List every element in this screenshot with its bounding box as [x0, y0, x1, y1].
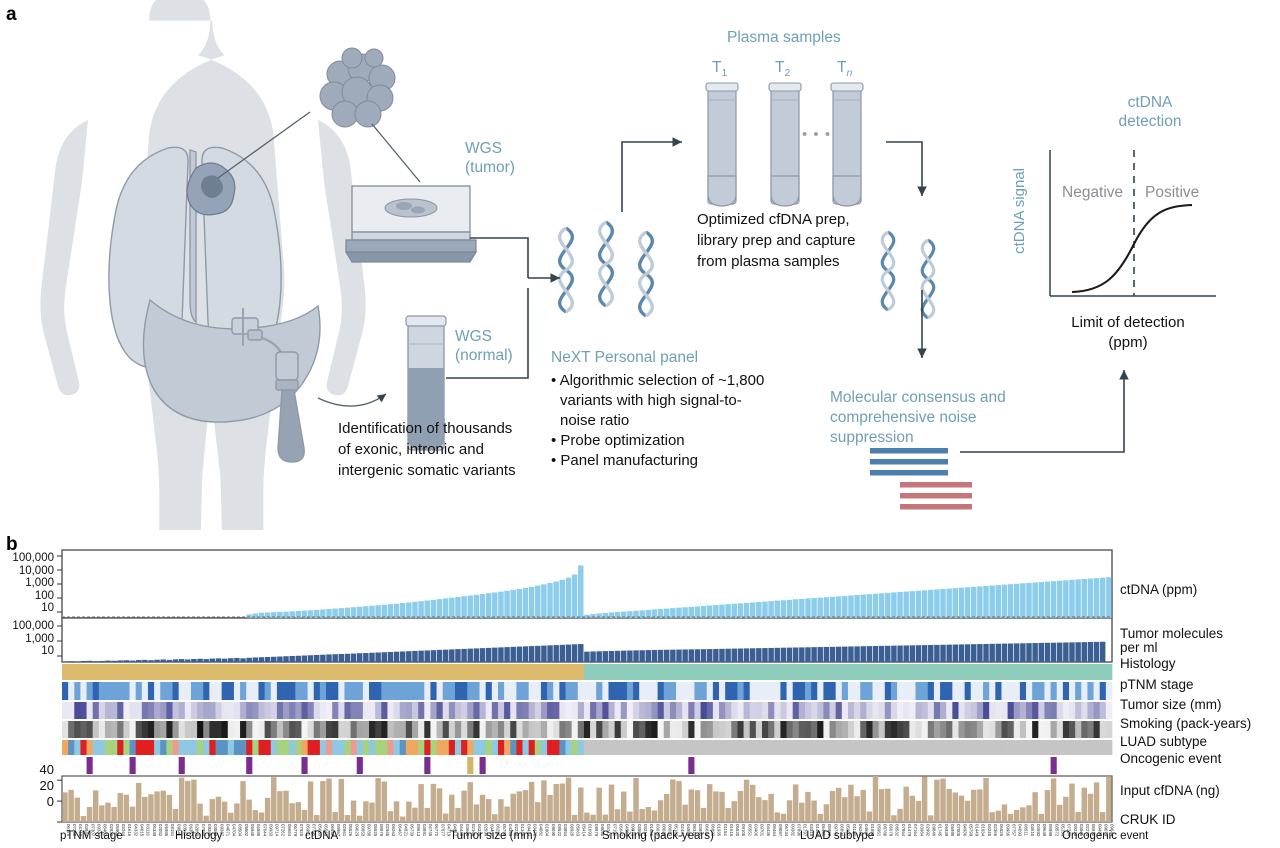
oncogenic-event-cell: [713, 757, 719, 774]
tumor-size-cell: [756, 702, 762, 719]
oncogenic-event-cell: [123, 757, 129, 774]
ptnm-stage-cell: [99, 682, 105, 700]
histology-cell: [823, 664, 829, 680]
smoking-cell: [744, 721, 750, 738]
tumor-size-cell: [535, 702, 541, 719]
smoking-cell: [510, 721, 516, 738]
tumor-size-cell: [406, 702, 412, 719]
smoking-cell: [295, 721, 301, 738]
ptnm-stage-cell: [768, 682, 774, 700]
ptnm-stage-cell: [504, 682, 510, 700]
histology-cell: [271, 664, 277, 680]
tumor-size-cell: [1075, 702, 1081, 719]
luad-subtype-cell: [566, 740, 572, 755]
tumor-size-cell: [780, 702, 786, 719]
ptnm-stage-cell: [909, 682, 915, 700]
smoking-cell: [688, 721, 694, 738]
luad-subtype-cell: [774, 740, 780, 755]
luad-subtype-cell: [701, 740, 707, 755]
tumor-size-cell: [811, 702, 817, 719]
luad-subtype-cell: [848, 740, 854, 755]
luad-subtype-cell: [676, 740, 682, 755]
histology-cell: [332, 664, 338, 680]
luad-subtype-cell: [602, 740, 608, 755]
histology-cell: [793, 664, 799, 680]
luad-subtype-cell: [756, 740, 762, 755]
tumor-size-cell: [774, 702, 780, 719]
luad-subtype-cell: [74, 740, 80, 755]
histology-cell: [602, 664, 608, 680]
smoking-cell: [117, 721, 123, 738]
tumor-size-cell: [1106, 702, 1112, 719]
ptnm-stage-cell: [965, 682, 971, 700]
histology-cell: [559, 664, 565, 680]
ptnm-stage-cell: [608, 682, 614, 700]
ptnm-stage-cell: [694, 682, 700, 700]
tumor-size-cell: [830, 702, 836, 719]
smoking-cell: [142, 721, 148, 738]
oncogenic-event-cell: [946, 757, 952, 774]
smoking-cell: [830, 721, 836, 738]
luad-subtype-cell: [547, 740, 553, 755]
ptnm-stage-cell: [400, 682, 406, 700]
luad-subtype-cell: [995, 740, 1001, 755]
smoking-cell: [87, 721, 93, 738]
tumor-size-cell: [142, 702, 148, 719]
ptnm-stage-cell: [93, 682, 99, 700]
histology-cell: [289, 664, 295, 680]
tumor-size-cell: [584, 702, 590, 719]
luad-subtype-cell: [406, 740, 412, 755]
tumor-size-cell: [1026, 702, 1032, 719]
histology-cell: [136, 664, 142, 680]
luad-subtype-cell: [946, 740, 952, 755]
histology-cell: [123, 664, 129, 680]
oncogenic-event-cell: [1020, 757, 1026, 774]
oncogenic-event-cell: [381, 757, 387, 774]
luad-subtype-cell: [1069, 740, 1075, 755]
oncogenic-event-cell: [418, 757, 424, 774]
ptnm-stage-cell: [246, 682, 252, 700]
oncogenic-event-cell: [934, 757, 940, 774]
ptnm-stage-cell: [234, 682, 240, 700]
oncogenic-event-cell: [467, 757, 473, 774]
oncogenic-event-cell: [87, 757, 93, 774]
tumor-size-cell: [1063, 702, 1069, 719]
smoking-cell: [664, 721, 670, 738]
oncogenic-event-cell: [117, 757, 123, 774]
tissue-slide: [346, 186, 476, 262]
ptnm-stage-cell: [977, 682, 983, 700]
smoking-cell: [1057, 721, 1063, 738]
luad-subtype-cell: [363, 740, 369, 755]
oncogenic-event-cell: [437, 757, 443, 774]
ptnm-stage-cell: [547, 682, 553, 700]
histology-cell: [596, 664, 602, 680]
luad-subtype-cell: [694, 740, 700, 755]
smoking-cell: [885, 721, 891, 738]
smoking-cell: [719, 721, 725, 738]
ptnm-stage-cell: [418, 682, 424, 700]
oncogenic-event-cell: [191, 757, 197, 774]
oncogenic-event-cell: [725, 757, 731, 774]
luad-subtype-cell: [940, 740, 946, 755]
tumor-size-cell: [989, 702, 995, 719]
luad-subtype-cell: [179, 740, 185, 755]
oncogenic-event-cell: [639, 757, 645, 774]
oncogenic-event-cell: [185, 757, 191, 774]
smoking-cell: [965, 721, 971, 738]
tumor-size-cell: [658, 702, 664, 719]
tumor-size-cell: [148, 702, 154, 719]
legend-tumor-size: Tumor size (mm): [450, 830, 536, 842]
ptnm-stage-cell: [823, 682, 829, 700]
ptnm-stage-cell: [731, 682, 737, 700]
ptnm-stage-cell: [1087, 682, 1093, 700]
luad-subtype-cell: [658, 740, 664, 755]
ptnm-stage-cell: [449, 682, 455, 700]
luad-subtype-cell: [130, 740, 136, 755]
luad-subtype-cell: [615, 740, 621, 755]
histology-cell: [922, 664, 928, 680]
tumor-size-cell: [455, 702, 461, 719]
tumor-size-cell: [363, 702, 369, 719]
histology-cell: [369, 664, 375, 680]
luad-subtype-cell: [971, 740, 977, 755]
histology-cell: [473, 664, 479, 680]
ptnm-stage-cell: [123, 682, 129, 700]
histology-cell: [240, 664, 246, 680]
histology-cell: [1014, 664, 1020, 680]
luad-subtype-cell: [664, 740, 670, 755]
histology-cell: [535, 664, 541, 680]
tumor-size-cell: [701, 702, 707, 719]
smoking-cell: [651, 721, 657, 738]
luad-subtype-cell: [381, 740, 387, 755]
histology-cell: [1087, 664, 1093, 680]
smoking-cell: [811, 721, 817, 738]
luad-subtype-cell: [265, 740, 271, 755]
luad-subtype-cell: [271, 740, 277, 755]
ptnm-stage-cell: [995, 682, 1001, 700]
histology-cell: [756, 664, 762, 680]
smoking-cell: [209, 721, 215, 738]
oncogenic-event-cell: [645, 757, 651, 774]
oncogenic-event-cell: [584, 757, 590, 774]
smoking-cell: [701, 721, 707, 738]
smoking-cell: [879, 721, 885, 738]
oncogenic-event-cell: [744, 757, 750, 774]
smoking-cell: [351, 721, 357, 738]
oncogenic-event-cell: [958, 757, 964, 774]
ptnm-stage-cell: [258, 682, 264, 700]
histology-cell: [621, 664, 627, 680]
luad-subtype-cell: [203, 740, 209, 755]
luad-subtype-cell: [375, 740, 381, 755]
luad-subtype-cell: [1032, 740, 1038, 755]
luad-subtype-cell: [467, 740, 473, 755]
ptnm-stage-cell: [1051, 682, 1057, 700]
tumor-size-cell: [295, 702, 301, 719]
ptnm-stage-cell: [922, 682, 928, 700]
histology-cell: [854, 664, 860, 680]
smoking-cell: [369, 721, 375, 738]
tumor-size-cell: [381, 702, 387, 719]
smoking-cell: [658, 721, 664, 738]
luad-subtype-cell: [80, 740, 86, 755]
ptnm-stage-cell: [74, 682, 80, 700]
smoking-cell: [578, 721, 584, 738]
histology-cell: [768, 664, 774, 680]
luad-subtype-cell: [424, 740, 430, 755]
tumor-size-cell: [160, 702, 166, 719]
ptnm-stage-cell: [455, 682, 461, 700]
ptnm-stage-cell: [179, 682, 185, 700]
plasma-tube-2: [769, 83, 801, 206]
smoking-cell: [559, 721, 565, 738]
oncogenic-event-cell: [535, 757, 541, 774]
oncogenic-event-cell: [885, 757, 891, 774]
histology-cell: [848, 664, 854, 680]
luad-subtype-cell: [93, 740, 99, 755]
smoking-cell: [283, 721, 289, 738]
smoking-cell: [750, 721, 756, 738]
luad-subtype-cell: [916, 740, 922, 755]
oncogenic-event-cell: [80, 757, 86, 774]
row-label-luad-subtype: LUAD subtype: [1120, 734, 1207, 749]
ptnm-stage-cell: [375, 682, 381, 700]
luad-subtype-cell: [977, 740, 983, 755]
smoking-cell: [529, 721, 535, 738]
consensus-read-stack: [870, 448, 972, 510]
ptnm-stage-cell: [1014, 682, 1020, 700]
luad-subtype-cell: [1001, 740, 1007, 755]
smoking-cell: [1094, 721, 1100, 738]
smoking-cell: [523, 721, 529, 738]
histology-cell: [787, 664, 793, 680]
ptnm-stage-cell: [252, 682, 258, 700]
histology-cell: [615, 664, 621, 680]
ctdna-detection-title: ctDNA detection: [1110, 93, 1190, 131]
histology-cell: [492, 664, 498, 680]
oncogenic-event-cell: [891, 757, 897, 774]
oncogenic-event-cell: [375, 757, 381, 774]
ptnm-stage-cell: [510, 682, 516, 700]
luad-subtype-cell: [559, 740, 565, 755]
smoking-cell: [983, 721, 989, 738]
luad-subtype-cell: [62, 740, 68, 755]
luad-subtype-cell: [332, 740, 338, 755]
luad-subtype-cell: [320, 740, 326, 755]
ptnm-stage-cell: [633, 682, 639, 700]
histology-cell: [142, 664, 148, 680]
smoking-cell: [793, 721, 799, 738]
oncogenic-event-cell: [216, 757, 222, 774]
histology-cell: [486, 664, 492, 680]
histology-cell: [952, 664, 958, 680]
smoking-cell: [639, 721, 645, 738]
luad-subtype-cell: [400, 740, 406, 755]
tumor-size-cell: [400, 702, 406, 719]
tumor-size-cell: [271, 702, 277, 719]
tumor-size-cell: [1020, 702, 1026, 719]
tumor-size-cell: [136, 702, 142, 719]
histology-cell: [1008, 664, 1014, 680]
luad-subtype-cell: [111, 740, 117, 755]
oncogenic-event-cell: [387, 757, 393, 774]
oncogenic-event-cell: [688, 757, 694, 774]
luad-subtype-cell: [737, 740, 743, 755]
luad-subtype-cell: [1094, 740, 1100, 755]
smoking-cell: [400, 721, 406, 738]
histology-cell: [934, 664, 940, 680]
ptnm-stage-cell: [793, 682, 799, 700]
tumor-size-cell: [1094, 702, 1100, 719]
luad-subtype-cell: [707, 740, 713, 755]
smoking-cell: [989, 721, 995, 738]
ptnm-stage-cell: [805, 682, 811, 700]
tumor-size-cell: [676, 702, 682, 719]
ptnm-stage-cell: [148, 682, 154, 700]
histology-cell: [578, 664, 584, 680]
luad-subtype-cell: [879, 740, 885, 755]
smoking-cell: [271, 721, 277, 738]
histology-cell: [762, 664, 768, 680]
ptnm-stage-cell: [903, 682, 909, 700]
oncogenic-event-cell: [621, 757, 627, 774]
histology-cell: [590, 664, 596, 680]
tumor-size-cell: [375, 702, 381, 719]
panel-b: b 100,000 10,000 1,000 100 10 100,000 1,…: [0, 530, 1280, 848]
smoking-cell: [130, 721, 136, 738]
ptnm-stage-cell: [750, 682, 756, 700]
luad-subtype-cell: [480, 740, 486, 755]
ptnm-stage-cell: [283, 682, 289, 700]
plasma-samples-label: Plasma samples: [727, 29, 841, 47]
histology-cell: [946, 664, 952, 680]
tumor-size-cell: [424, 702, 430, 719]
tumor-size-cell: [916, 702, 922, 719]
tumor-size-cell: [68, 702, 74, 719]
ptnm-stage-cell: [566, 682, 572, 700]
smoking-cell: [737, 721, 743, 738]
luad-subtype-cell: [584, 740, 590, 755]
oncogenic-event-cell: [314, 757, 320, 774]
smoking-cell: [412, 721, 418, 738]
ptnm-stage-cell: [639, 682, 645, 700]
tumor-size-cell: [897, 702, 903, 719]
oncogenic-event-cell: [68, 757, 74, 774]
histology-cell: [541, 664, 547, 680]
smoking-cell: [357, 721, 363, 738]
ptnm-stage-cell: [578, 682, 584, 700]
tumor-size-cell: [301, 702, 307, 719]
ptnm-stage-cell: [203, 682, 209, 700]
oncogenic-event-cell: [1075, 757, 1081, 774]
tumor-size-cell: [934, 702, 940, 719]
tumor-size-cell: [480, 702, 486, 719]
luad-subtype-cell: [326, 740, 332, 755]
ptnm-stage-cell: [338, 682, 344, 700]
luad-subtype-cell: [314, 740, 320, 755]
histology-cell: [694, 664, 700, 680]
smoking-cell: [461, 721, 467, 738]
ptnm-stage-cell: [658, 682, 664, 700]
luad-subtype-cell: [989, 740, 995, 755]
luad-subtype-cell: [504, 740, 510, 755]
tumor-size-cell: [762, 702, 768, 719]
histology-cell: [860, 664, 866, 680]
luad-subtype-cell: [1100, 740, 1106, 755]
oncogenic-event-cell: [1057, 757, 1063, 774]
ptnm-stage-cell: [320, 682, 326, 700]
tumor-size-cell: [492, 702, 498, 719]
ptnm-stage-cell: [240, 682, 246, 700]
histology-cell: [461, 664, 467, 680]
luad-subtype-cell: [713, 740, 719, 755]
histology-cell: [928, 664, 934, 680]
ptnm-stage-cell: [983, 682, 989, 700]
smoking-cell: [338, 721, 344, 738]
histology-cell: [154, 664, 160, 680]
luad-subtype-cell: [541, 740, 547, 755]
smoking-cell: [596, 721, 602, 738]
oncogenic-event-cell: [1051, 757, 1057, 774]
legend-luad-subtype: LUAD subtype: [800, 830, 874, 842]
tumor-size-cell: [713, 702, 719, 719]
ptnm-stage-cell: [1026, 682, 1032, 700]
histology-cell: [885, 664, 891, 680]
tumor-size-cell: [823, 702, 829, 719]
oncogenic-event-cell: [400, 757, 406, 774]
smoking-cell: [756, 721, 762, 738]
ptnm-stage-cell: [621, 682, 627, 700]
ptnm-stage-cell: [209, 682, 215, 700]
smoking-cell: [645, 721, 651, 738]
ptnm-stage-cell: [142, 682, 148, 700]
luad-subtype-cell: [301, 740, 307, 755]
histology-cell: [1051, 664, 1057, 680]
ptnm-stage-cell: [117, 682, 123, 700]
ptnm-stage-cell: [762, 682, 768, 700]
luad-subtype-cell: [449, 740, 455, 755]
ptnm-stage-cell: [173, 682, 179, 700]
luad-subtype-cell: [633, 740, 639, 755]
ptnm-stage-cell: [271, 682, 277, 700]
luad-subtype-cell: [768, 740, 774, 755]
histology-cell: [688, 664, 694, 680]
tumor-size-cell: [805, 702, 811, 719]
ptnm-stage-cell: [289, 682, 295, 700]
smoking-cell: [136, 721, 142, 738]
tumor-size-cell: [651, 702, 657, 719]
luad-subtype-cell: [750, 740, 756, 755]
next-personal-bullets: • Algorithmic selection of ~1,800 varian…: [551, 371, 764, 471]
tumor-size-cell: [123, 702, 129, 719]
oncogenic-event-cell: [1032, 757, 1038, 774]
tumor-size-cell: [246, 702, 252, 719]
tumor-size-cell: [848, 702, 854, 719]
ctdna-axis-labels: 100,000 10,000 1,000 100 10: [0, 552, 54, 615]
smoking-cell: [866, 721, 872, 738]
histology-cell: [879, 664, 885, 680]
oncogenic-event-cell: [363, 757, 369, 774]
smoking-cell: [547, 721, 553, 738]
tumor-size-cell: [866, 702, 872, 719]
smoking-cell: [443, 721, 449, 738]
tumor-to-slide-line: [372, 124, 420, 182]
luad-subtype-cell: [234, 740, 240, 755]
